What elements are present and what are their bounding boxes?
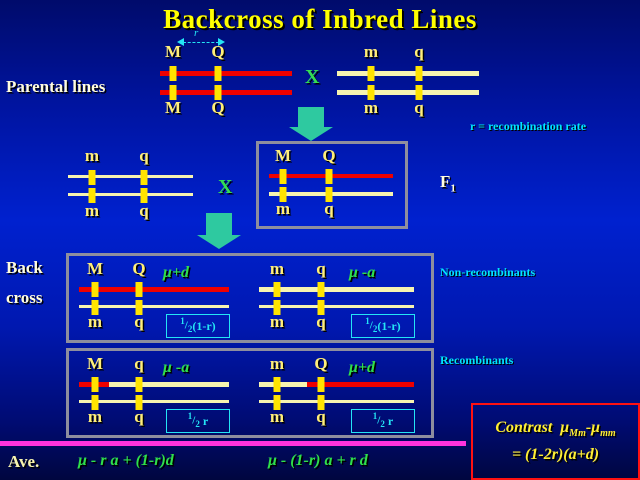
locus-marker-top-1	[368, 66, 375, 81]
mu-Mm: μMm	[560, 419, 586, 436]
locus-marker-top-2	[318, 282, 325, 297]
locus-marker-top-2	[215, 66, 222, 81]
mu-symbol-2: μ	[591, 419, 600, 436]
fraction-denominator: 2	[380, 419, 385, 429]
f1-chromosome-pair: M Q m q	[269, 148, 393, 218]
locus-marker-top-1	[89, 170, 96, 185]
backcross-label-line2: cross	[6, 288, 43, 308]
allele-top-2: Q	[211, 42, 224, 62]
average-formula-left: μ - r a + (1-r)d	[78, 452, 174, 470]
allele-bottom-1: m	[88, 407, 102, 427]
arrow-stem	[206, 213, 232, 235]
locus-marker-top-2	[416, 66, 423, 81]
frequency-rest: (1-r)	[192, 319, 215, 334]
chromosome-bar-top	[259, 287, 414, 292]
allele-top-2: Q	[314, 354, 327, 374]
chromosome-bar-top-cream-segment	[259, 382, 307, 387]
non-recombinants-label: Non-recombinants	[440, 265, 535, 280]
locus-marker-top-2	[318, 377, 325, 392]
locus-marker-top-1	[170, 66, 177, 81]
average-label: Ave.	[8, 452, 39, 472]
allele-bottom-2: q	[316, 407, 325, 427]
locus-marker-top-1	[280, 169, 287, 184]
allele-top-2: Q	[322, 146, 335, 166]
allele-top-1: M	[275, 146, 291, 166]
chromosome-bar-bottom	[79, 400, 229, 403]
allele-top-2: q	[414, 42, 423, 62]
locus-marker-top-1	[92, 282, 99, 297]
contrast-heading: Contrast	[495, 419, 552, 436]
allele-bottom-2: q	[134, 407, 143, 427]
mu-symbol-1: μ	[560, 419, 569, 436]
allele-bottom-1: m	[270, 312, 284, 332]
chromosome-bar-top	[79, 287, 229, 292]
mu-subscript-1: Mm	[569, 429, 586, 440]
frequency-rest: r	[388, 414, 393, 429]
recombination-rate-note: r = recombination rate	[470, 119, 586, 134]
recombinants-label: Recombinants	[440, 353, 513, 368]
allele-top-1: m	[364, 42, 378, 62]
allele-bottom-2: q	[414, 98, 423, 118]
allele-bottom-1: m	[88, 312, 102, 332]
arrow-head-icon	[197, 235, 241, 249]
fraction-numerator: 1	[180, 316, 185, 326]
allele-top-1: m	[85, 146, 99, 166]
frequency-box: 1/2 r	[351, 409, 415, 433]
contrast-expression: Contrast μMm-μmm	[495, 419, 615, 439]
fraction-numerator: 1	[188, 411, 193, 421]
genetic-effect: μ -a	[163, 359, 189, 377]
chromosome-bar-bottom	[79, 305, 229, 308]
contrast-box: Contrast μMm-μmm = (1-2r)(a+d)	[471, 403, 640, 480]
recombinant-genotype-1: M q μ -a m q 1/2 r	[79, 356, 229, 430]
allele-top-1: M	[87, 259, 103, 279]
allele-top-2: q	[139, 146, 148, 166]
down-arrow-to-f1	[289, 107, 333, 139]
fraction-numerator: 1	[365, 316, 370, 326]
frequency-box: 1/2(1-r)	[351, 314, 415, 338]
page-title: Backcross of Inbred Lines	[0, 4, 640, 35]
separator-rule	[0, 441, 466, 446]
frequency-fraction: 1/2	[188, 411, 200, 429]
non-recombinant-genotype-2: m q μ -a m q 1/2(1-r)	[259, 261, 419, 335]
backcross-parent-chromosome-pair: m q m q	[68, 148, 193, 220]
frequency-rest: (1-r)	[377, 319, 400, 334]
allele-bottom-1: m	[364, 98, 378, 118]
parental-lines-label: Parental lines	[6, 77, 105, 97]
chromosome-bar-top	[68, 175, 193, 178]
down-arrow-to-backcross	[197, 213, 241, 249]
cross-symbol-backcross: X	[218, 176, 232, 199]
parental-left-chromosome-pair: M Q M Q	[160, 44, 292, 116]
allele-bottom-2: Q	[211, 98, 224, 118]
chromosome-bar-bottom	[68, 193, 193, 196]
frequency-fraction: 1/2	[365, 316, 377, 334]
genetic-effect: μ -a	[349, 264, 375, 282]
fraction-denominator: 2	[373, 324, 378, 334]
frequency-box: 1/2(1-r)	[166, 314, 230, 338]
locus-marker-top-2	[136, 282, 143, 297]
r-label: r	[194, 27, 198, 39]
genetic-effect: μ+d	[349, 359, 375, 377]
arrow-head-icon	[289, 127, 333, 141]
frequency-rest: r	[203, 414, 208, 429]
f1-letter: F	[440, 172, 450, 191]
mu-subscript-2: mm	[600, 429, 616, 440]
allele-top-1: m	[270, 354, 284, 374]
chromosome-bar-top	[337, 71, 479, 76]
allele-bottom-2: q	[324, 199, 333, 219]
arrow-stem	[298, 107, 324, 127]
non-recombinants-box: M Q μ+d m q 1/2(1-r) m q μ -a m q 1/2(1-…	[66, 253, 434, 343]
allele-top-2: q	[134, 354, 143, 374]
backcross-label-line1: Back	[6, 258, 43, 278]
parental-right-chromosome-pair: m q m q	[337, 44, 479, 116]
allele-bottom-2: q	[316, 312, 325, 332]
allele-bottom-1: m	[270, 407, 284, 427]
chromosome-bar-top-cream-segment	[109, 382, 229, 387]
f1-label: F1	[440, 172, 456, 194]
allele-bottom-2: q	[139, 201, 148, 221]
allele-bottom-1: m	[85, 201, 99, 221]
chromosome-bar-bottom	[160, 90, 292, 95]
contrast-result: = (1-2r)(a+d)	[512, 446, 599, 464]
locus-marker-top-1	[274, 377, 281, 392]
frequency-fraction: 1/2	[373, 411, 385, 429]
locus-marker-top-1	[274, 282, 281, 297]
mu-mm: μmm	[591, 419, 615, 436]
chromosome-bar-top	[160, 71, 292, 76]
frequency-fraction: 1/2	[180, 316, 192, 334]
f1-genotype-box: M Q m q	[256, 141, 408, 229]
allele-top-2: Q	[132, 259, 145, 279]
average-formula-right: μ - (1-r) a + r d	[268, 452, 368, 470]
allele-bottom-1: m	[276, 199, 290, 219]
allele-top-1: M	[165, 42, 181, 62]
locus-marker-top-2	[136, 377, 143, 392]
fraction-denominator: 2	[195, 419, 200, 429]
fraction-denominator: 2	[188, 324, 193, 334]
recombinant-genotype-2: m Q μ+d m q 1/2 r	[259, 356, 419, 430]
f1-subscript: 1	[450, 182, 456, 194]
genetic-effect: μ+d	[163, 264, 189, 282]
cross-symbol-parental: X	[305, 66, 319, 89]
allele-bottom-2: q	[134, 312, 143, 332]
frequency-box: 1/2 r	[166, 409, 230, 433]
locus-marker-top-1	[92, 377, 99, 392]
fraction-numerator: 1	[373, 411, 378, 421]
allele-bottom-1: M	[165, 98, 181, 118]
chromosome-bar-bottom	[337, 90, 479, 95]
chromosome-bar-bottom	[259, 400, 414, 403]
non-recombinant-genotype-1: M Q μ+d m q 1/2(1-r)	[79, 261, 229, 335]
locus-marker-top-2	[326, 169, 333, 184]
locus-marker-top-2	[141, 170, 148, 185]
recombinants-box: M q μ -a m q 1/2 r m Q μ+d m q 1/2 r	[66, 348, 434, 438]
allele-top-2: q	[316, 259, 325, 279]
allele-top-1: M	[87, 354, 103, 374]
chromosome-bar-bottom	[259, 305, 414, 308]
allele-top-1: m	[270, 259, 284, 279]
